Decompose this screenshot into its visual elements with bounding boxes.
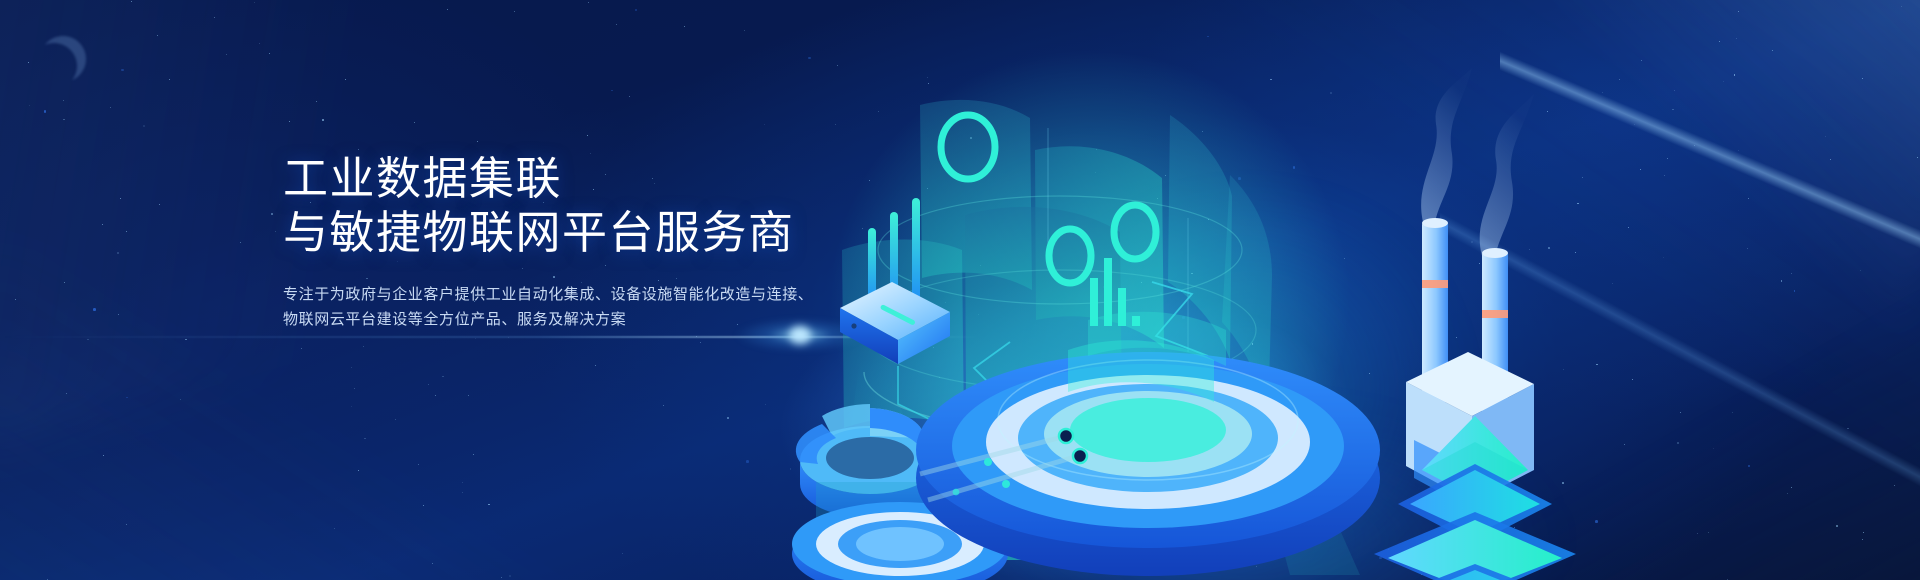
- layered-pyramid: [1346, 416, 1604, 580]
- subtitle-line-2: 物联网云平台建设等全方位产品、服务及解决方案: [283, 307, 843, 332]
- pie-cyl-hole: [826, 437, 914, 479]
- stack-left-band: [1422, 280, 1448, 288]
- router-antenna-3: [912, 198, 920, 306]
- hero-copy: 工业数据集联 与敏捷物联网平台服务商 专注于为政府与企业客户提供工业自动化集成、…: [283, 152, 843, 332]
- stack-left-rim: [1422, 218, 1448, 228]
- stack-right-rim: [1482, 248, 1508, 258]
- stack-right-band: [1482, 310, 1508, 318]
- smoke-plume-right: [1480, 94, 1534, 266]
- hero-illustration: [760, 0, 1920, 580]
- headline-line-1: 工业数据集联: [283, 152, 843, 206]
- small-disc-core: [856, 527, 944, 561]
- subtitle-line-1: 专注于为政府与企业客户提供工业自动化集成、设备设施智能化改造与连接、: [283, 282, 843, 307]
- headline-line-2: 与敏捷物联网平台服务商: [283, 206, 843, 260]
- crescent-glow: [40, 36, 86, 82]
- connector-node-2: [1073, 449, 1087, 463]
- connector-node-1: [1059, 429, 1073, 443]
- smoke-plume-left: [1421, 68, 1472, 230]
- hero-banner: 工业数据集联 与敏捷物联网平台服务商 专注于为政府与企业客户提供工业自动化集成、…: [0, 0, 1920, 580]
- disc-core: [1070, 398, 1226, 462]
- pyramid-tier-1: [1360, 570, 1590, 580]
- router-port: [851, 323, 856, 328]
